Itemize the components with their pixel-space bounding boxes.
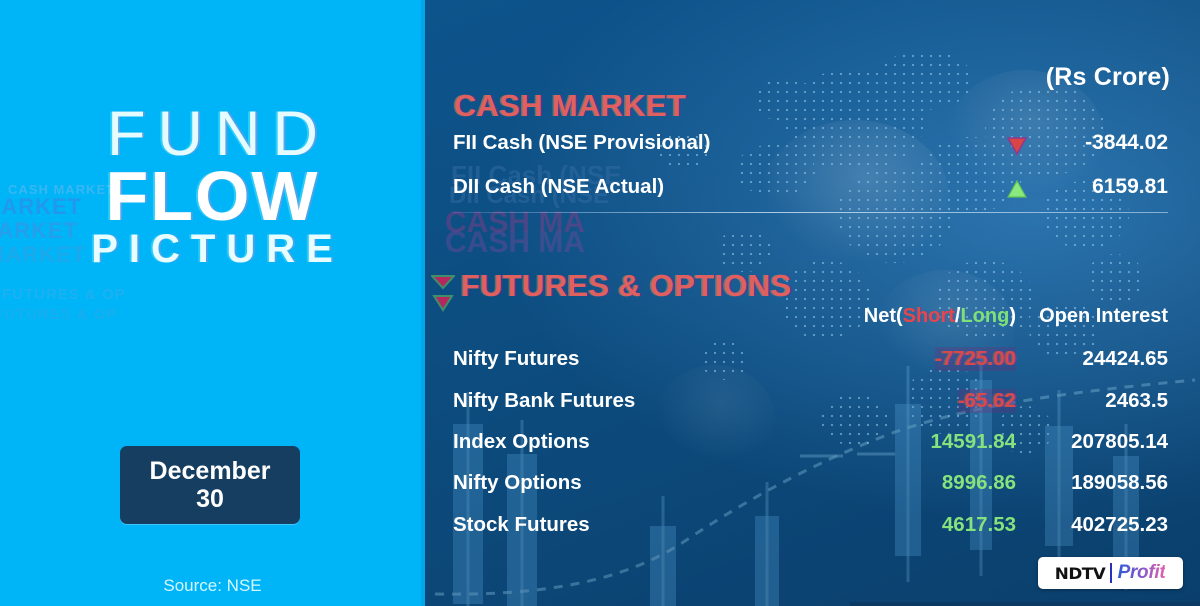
page-title: FUND FLOW PICTURE (0, 104, 425, 269)
fno-row-net: -7725.00 (935, 347, 1016, 371)
column-header-open-interest: Open Interest (1039, 305, 1168, 328)
title-word-fund: FUND (0, 104, 425, 165)
logo-divider (1110, 563, 1112, 583)
fno-row-net: 4617.53 (942, 513, 1016, 537)
left-title-panel: MARKET MARKET MARKET FUTURES & OP FUTURE… (0, 0, 425, 606)
futures-options-heading: FUTURES & OPTIONS (461, 268, 792, 304)
glitch-artifact-4: FUTURES & OP (2, 286, 126, 303)
source-label: Source: NSE (0, 576, 425, 596)
title-word-picture: PICTURE (0, 229, 425, 269)
fno-row-net: 14591.84 (930, 430, 1016, 454)
glitch-artifact-5: FUTURES & OP (0, 306, 118, 323)
fno-row-net: -65.62 (958, 389, 1016, 413)
table-row: Stock Futures 4617.53 402725.23 (453, 513, 1168, 543)
cash-row-value: -3844.02 (1085, 131, 1168, 155)
triangle-down-icon (431, 272, 455, 316)
section-divider (453, 212, 1168, 213)
data-panel: (Rs Crore) FII Cash (NSE DII Cash (NSE C… (425, 0, 1200, 606)
fno-row-open-interest: 207805.14 (1071, 430, 1168, 454)
table-row-fii-cash: FII Cash (NSE Provisional) -3844.02 (453, 131, 1168, 165)
date-day: 30 (196, 485, 224, 513)
units-label: (Rs Crore) (1046, 63, 1170, 92)
title-word-flow: FLOW (0, 161, 425, 231)
fno-row-label: Nifty Futures (453, 347, 579, 371)
logo-brand-text: NDTV (1054, 564, 1104, 583)
ndtv-profit-logo: NDTV Profit (1038, 557, 1183, 589)
triangle-down-icon (1006, 134, 1028, 156)
fno-row-label: Nifty Bank Futures (453, 389, 635, 413)
table-row: Index Options 14591.84 207805.14 (453, 430, 1168, 460)
logo-product-text: Profit (1118, 562, 1166, 584)
table-row: Nifty Options 8996.86 189058.56 (453, 471, 1168, 501)
column-header-net: Net(Short/Long) (864, 305, 1016, 328)
fno-row-label: Nifty Options (453, 471, 582, 495)
bottom-strip (850, 602, 1200, 606)
date-month: December (150, 457, 271, 485)
fno-row-open-interest: 402725.23 (1071, 513, 1168, 537)
cash-row-value: 6159.81 (1092, 175, 1168, 199)
table-row-dii-cash: DII Cash (NSE Actual) 6159.81 (453, 175, 1168, 209)
fno-row-label: Index Options (453, 430, 590, 454)
fno-row-label: Stock Futures (453, 513, 590, 537)
fund-flow-graphic: MARKET MARKET MARKET FUTURES & OP FUTURE… (0, 0, 1200, 606)
cash-row-label: DII Cash (NSE Actual) (453, 175, 664, 199)
cash-row-label: FII Cash (NSE Provisional) (453, 131, 710, 155)
fno-row-open-interest: 24424.65 (1082, 347, 1168, 371)
net-prefix: Net( (864, 305, 903, 327)
table-row: Nifty Bank Futures -65.62 2463.5 (453, 389, 1168, 419)
fno-row-open-interest: 189058.56 (1071, 471, 1168, 495)
table-row: Nifty Futures -7725.00 24424.65 (453, 347, 1168, 377)
date-badge: December 30 (120, 446, 300, 524)
net-long-label: Long (960, 305, 1009, 327)
net-short-label: Short (903, 305, 955, 327)
triangle-up-icon (1006, 178, 1028, 200)
net-suffix: ) (1009, 305, 1016, 327)
futures-options-column-headers: Net(Short/Long) Open Interest (453, 305, 1168, 331)
fno-row-open-interest: 2463.5 (1105, 389, 1168, 413)
cash-market-heading: CASH MARKET (454, 88, 686, 124)
fno-row-net: 8996.86 (942, 471, 1016, 495)
